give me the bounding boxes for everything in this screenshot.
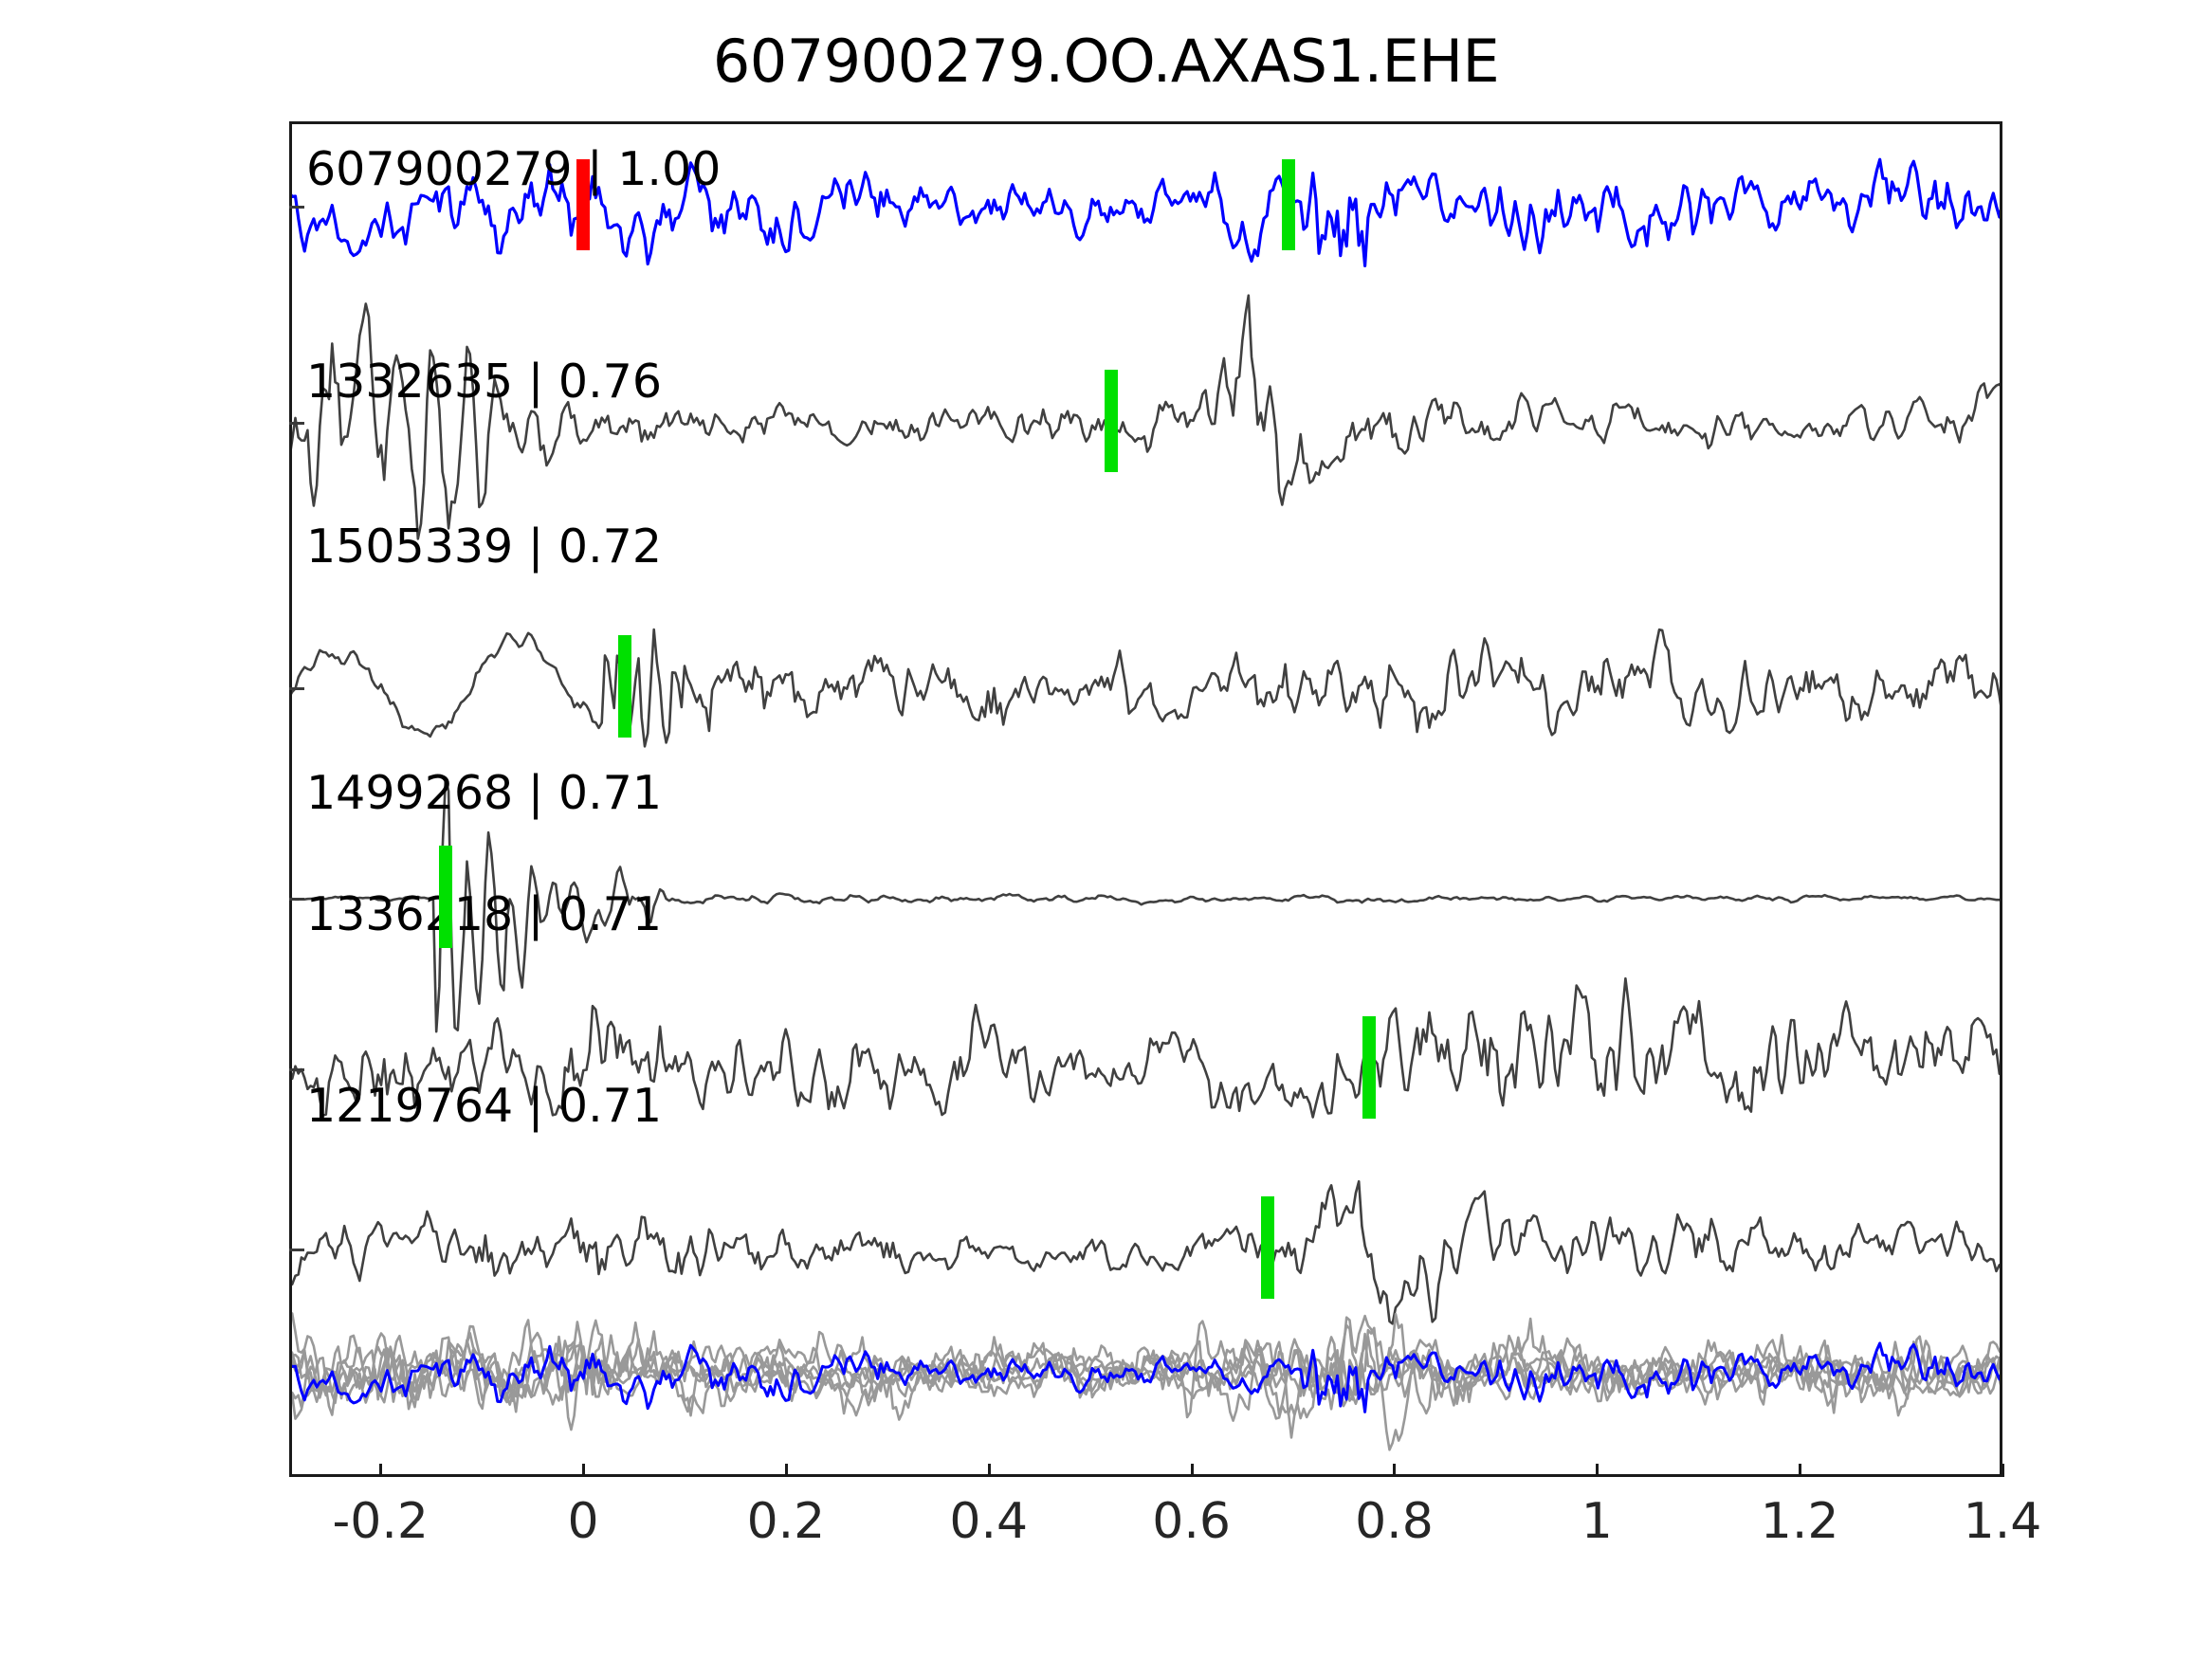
trace-baseline-stub-5 [289, 1249, 304, 1251]
page-title: 607900279.OO.AXAS1.EHE [0, 27, 2212, 96]
plot-area: 607900279 | 1.001332635 | 0.761505339 | … [289, 121, 2002, 1477]
trace-baseline-stub-1 [289, 422, 304, 425]
x-tick-mark-6 [1596, 1464, 1599, 1477]
trace-label-1332635: 1332635 | 0.76 [306, 355, 662, 409]
x-tick-mark-3 [988, 1464, 991, 1477]
pick-marker-s-1336218 [1362, 1016, 1376, 1119]
trace-label-1336218: 1336218 | 0.71 [306, 887, 662, 941]
x-tick-mark-4 [1191, 1464, 1194, 1477]
x-tick-label-7: 1.2 [1761, 1493, 1839, 1550]
trace-label-1219764: 1219764 | 0.71 [306, 1079, 662, 1133]
trace-baseline-stub-2 [289, 687, 304, 690]
x-tick-label-6: 1 [1581, 1493, 1613, 1550]
x-tick-label-2: 0.2 [747, 1493, 826, 1550]
trace-baseline-stub-0 [289, 206, 304, 209]
pick-marker-s-1499268 [439, 846, 452, 948]
x-axis-tick-labels: -0.200.20.40.60.811.21.4 [289, 1493, 2002, 1559]
x-tick-mark-8 [2002, 1464, 2004, 1477]
x-tick-mark-5 [1393, 1464, 1396, 1477]
pick-marker-s-1219764 [1261, 1196, 1274, 1299]
x-tick-label-0: -0.2 [332, 1493, 428, 1550]
pick-marker-s-1332635 [1105, 370, 1118, 472]
x-tick-mark-2 [785, 1464, 788, 1477]
trace-label-607900279: 607900279 | 1.00 [306, 142, 721, 196]
pick-marker-s-1505339 [618, 635, 631, 738]
waveform-figure: 607900279.OO.AXAS1.EHE 607900279 | 1.001… [0, 0, 2212, 1659]
trace-line-1332635 [289, 296, 2002, 539]
x-tick-mark-1 [582, 1464, 585, 1477]
x-tick-label-3: 0.4 [949, 1493, 1028, 1550]
x-tick-label-1: 0 [568, 1493, 599, 1550]
x-tick-mark-7 [1799, 1464, 1801, 1477]
x-tick-mark-0 [379, 1464, 382, 1477]
trace-label-1499268: 1499268 | 0.71 [306, 766, 662, 820]
pick-marker-p-607900279 [576, 159, 590, 250]
x-tick-label-5: 0.8 [1355, 1493, 1434, 1550]
trace-baseline-stub-4 [289, 1068, 304, 1071]
trace-line-1219764 [289, 1181, 2002, 1323]
pick-marker-s-607900279 [1282, 159, 1295, 250]
x-tick-label-4: 0.6 [1152, 1493, 1231, 1550]
trace-label-1505339: 1505339 | 0.72 [306, 520, 662, 574]
trace-baseline-stub-3 [289, 898, 304, 901]
trace-line-1505339 [289, 629, 2002, 746]
x-tick-label-8: 1.4 [1964, 1493, 2042, 1550]
